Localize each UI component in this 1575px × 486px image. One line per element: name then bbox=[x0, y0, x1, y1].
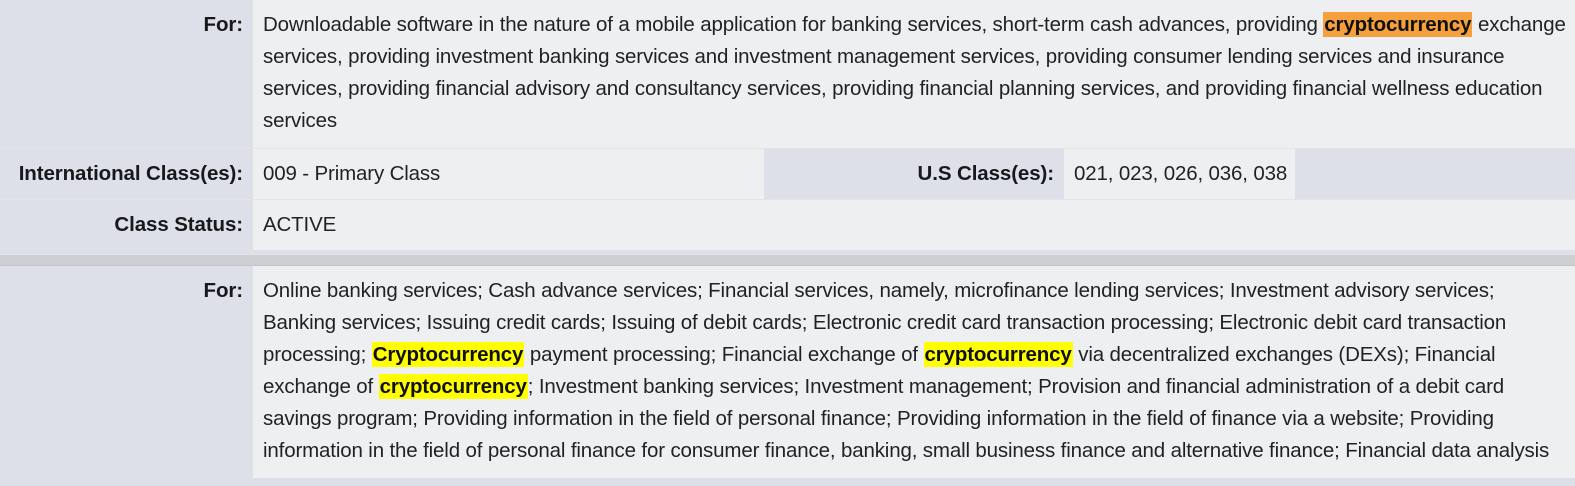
for-label: For: bbox=[0, 0, 251, 148]
section-separator bbox=[0, 254, 1575, 266]
class-codes-row: International Class(es): 009 - Primary C… bbox=[0, 148, 1575, 200]
us-class-label: U.S Class(es): bbox=[762, 149, 1062, 199]
for-row: For: Downloadable software in the nature… bbox=[0, 0, 1575, 148]
us-class-value: 021, 023, 026, 036, 038 bbox=[1062, 149, 1295, 199]
highlighted-term: cryptocurrency bbox=[924, 342, 1073, 367]
class-section-036: For: Online banking services; Cash advan… bbox=[0, 266, 1575, 478]
international-class-label: International Class(es): bbox=[0, 149, 251, 199]
class-section-009: For: Downloadable software in the nature… bbox=[0, 0, 1575, 254]
goods-and-services-panel: For: Downloadable software in the nature… bbox=[0, 0, 1575, 478]
for-row: For: Online banking services; Cash advan… bbox=[0, 266, 1575, 478]
international-class-value: 009 - Primary Class bbox=[251, 149, 762, 199]
class-status-label: Class Status: bbox=[0, 200, 251, 250]
highlighted-term: Cryptocurrency bbox=[372, 342, 525, 367]
for-value: Downloadable software in the nature of a… bbox=[251, 0, 1575, 148]
for-value: Online banking services; Cash advance se… bbox=[251, 266, 1575, 478]
class-status-value: ACTIVE bbox=[251, 200, 1575, 250]
highlighted-term: cryptocurrency bbox=[379, 374, 528, 399]
highlighted-term: cryptocurrency bbox=[1323, 12, 1472, 37]
class-status-row: Class Status: ACTIVE bbox=[0, 200, 1575, 250]
for-label: For: bbox=[0, 266, 251, 478]
